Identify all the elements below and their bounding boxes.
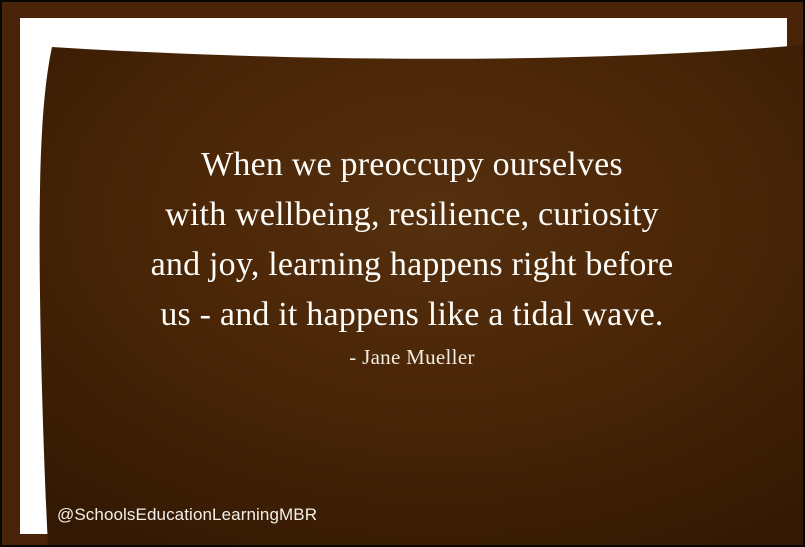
quote-line: When we preoccupy ourselves [62, 140, 762, 190]
social-handle: @SchoolsEducationLearningMBR [57, 505, 317, 525]
card-content: When we preoccupy ourselves with wellbei… [0, 0, 805, 547]
quote-line: with wellbeing, resilience, curiosity [62, 190, 762, 240]
quote-line: and joy, learning happens right before [62, 240, 762, 290]
quote-text-block: When we preoccupy ourselves with wellbei… [62, 140, 762, 340]
quote-attribution: - Jane Mueller [62, 345, 762, 370]
quote-line: us - and it happens like a tidal wave. [62, 290, 762, 340]
quote-card-canvas: When we preoccupy ourselves with wellbei… [0, 0, 805, 547]
